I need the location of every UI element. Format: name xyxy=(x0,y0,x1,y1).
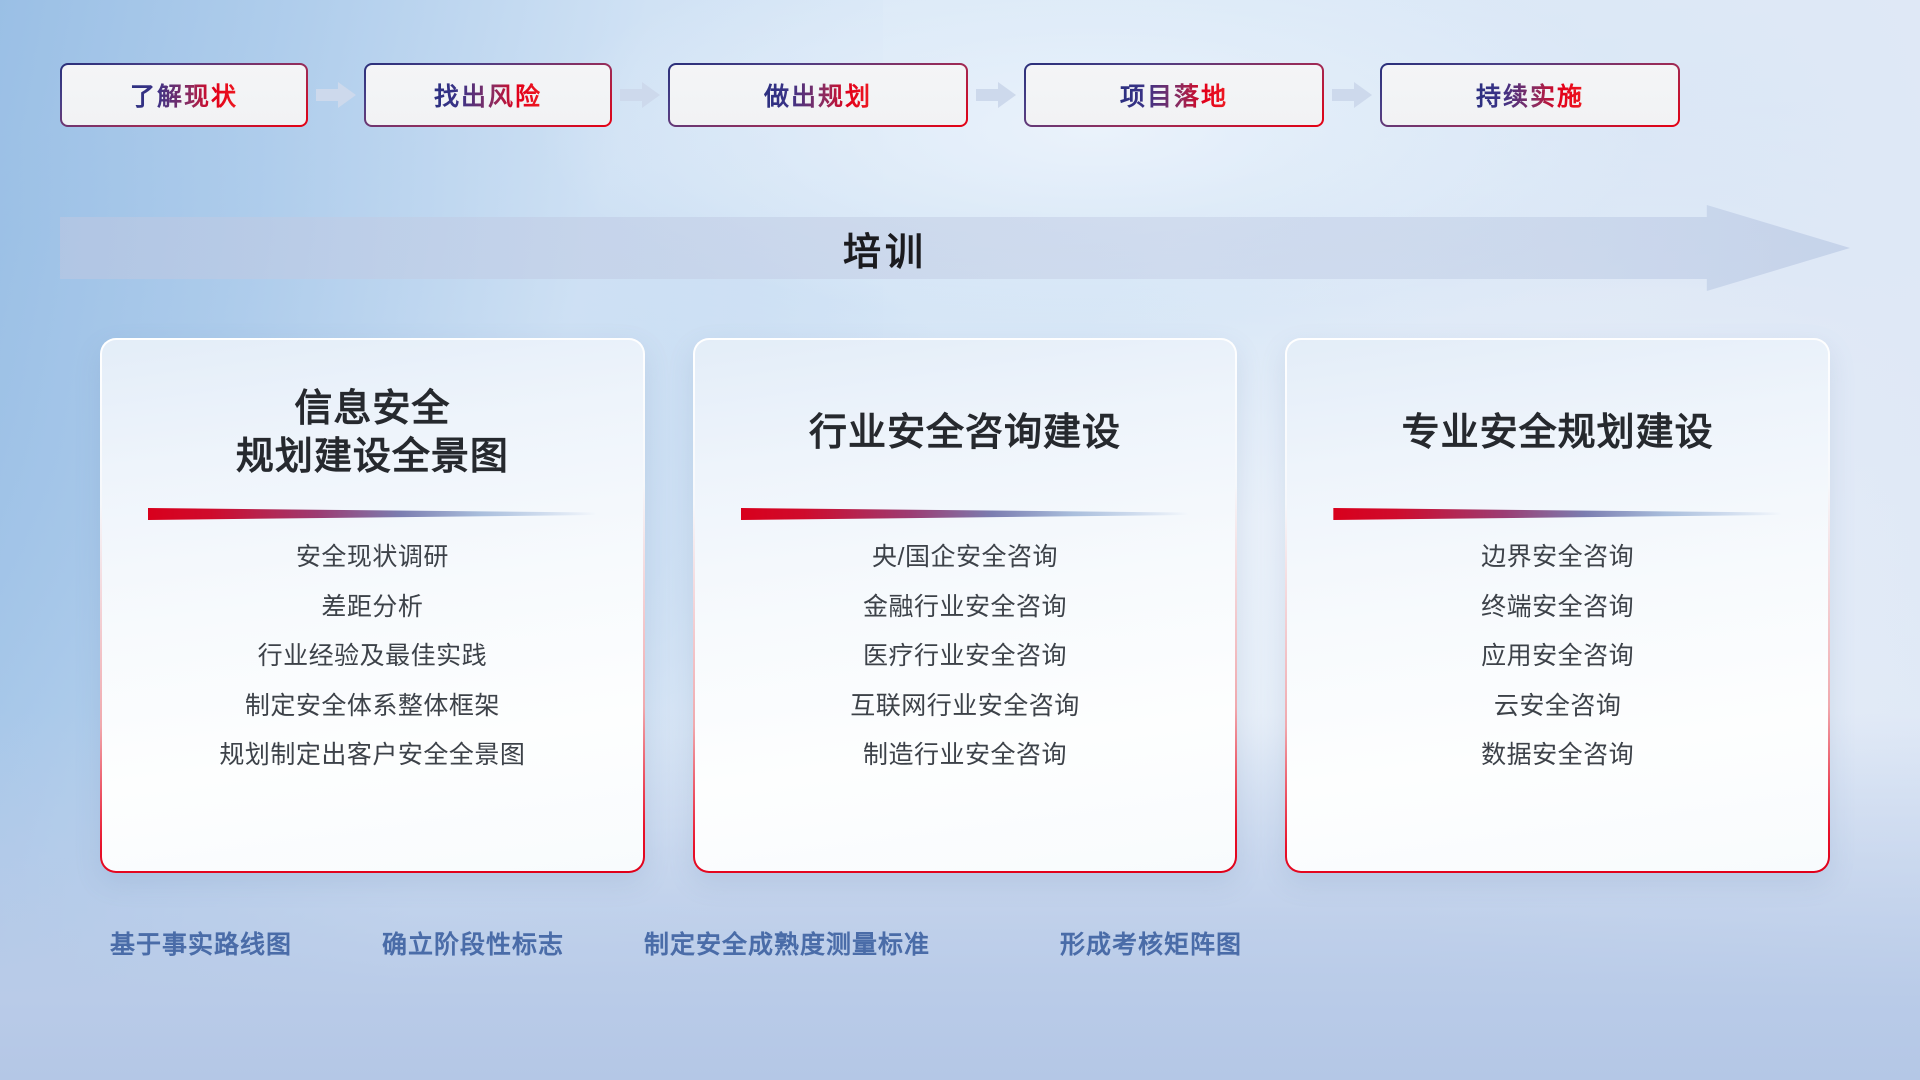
list-item: 应用安全咨询 xyxy=(1481,637,1634,677)
card-industry-security-consulting[interactable]: 行业安全咨询建设 央/国企安全咨询 金融行业安全咨询 医疗行业安全咨询 互联网行… xyxy=(693,338,1238,873)
step-label-3: 做出规划 xyxy=(764,77,872,113)
card-title: 行业安全咨询建设 xyxy=(809,386,1121,482)
list-item: 医疗行业安全咨询 xyxy=(863,637,1067,677)
training-banner-title: 培训 xyxy=(60,205,1710,291)
card-divider xyxy=(1333,508,1782,520)
card-divider xyxy=(741,508,1190,520)
card-item-list: 央/国企安全咨询 金融行业安全咨询 医疗行业安全咨询 互联网行业安全咨询 制造行… xyxy=(723,538,1208,776)
list-item: 边界安全咨询 xyxy=(1481,538,1634,578)
list-item: 制定安全体系整体框架 xyxy=(245,687,500,727)
arrow-right-icon xyxy=(1332,80,1372,110)
caption-fact-based-roadmap: 基于事实路线图 xyxy=(110,925,292,961)
step-label-2: 找出风险 xyxy=(434,77,542,113)
card-title-line: 信息安全 xyxy=(294,388,450,430)
card-item-list: 边界安全咨询 终端安全咨询 应用安全咨询 云安全咨询 数据安全咨询 xyxy=(1315,538,1800,776)
list-item: 终端安全咨询 xyxy=(1481,588,1634,628)
step-label-1: 了解现状 xyxy=(130,77,238,113)
step-item-1[interactable]: 了解现状 xyxy=(60,63,308,127)
list-item: 行业经验及最佳实践 xyxy=(258,637,488,677)
step-item-2[interactable]: 找出风险 xyxy=(364,63,612,127)
list-item: 数据安全咨询 xyxy=(1481,736,1634,776)
card-professional-security-planning[interactable]: 专业安全规划建设 边界安全咨询 终端安全咨询 应用安全咨询 云安全咨询 数据安全… xyxy=(1285,338,1830,873)
step-label-5: 持续实施 xyxy=(1476,77,1584,113)
list-item: 安全现状调研 xyxy=(296,538,449,578)
list-item: 金融行业安全咨询 xyxy=(863,588,1067,628)
arrow-right-icon xyxy=(976,80,1016,110)
arrow-right-icon xyxy=(620,80,660,110)
card-divider xyxy=(148,508,597,520)
step-label-4: 项目落地 xyxy=(1120,77,1228,113)
card-title-line: 行业安全咨询建设 xyxy=(809,410,1121,458)
list-item: 央/国企安全咨询 xyxy=(872,538,1058,578)
list-item: 云安全咨询 xyxy=(1494,687,1622,727)
step-item-4[interactable]: 项目落地 xyxy=(1024,63,1324,127)
card-group: 信息安全 规划建设全景图 安全现状调研 差距分析 行业经验及最佳实践 制定安全体… xyxy=(100,338,1830,873)
list-item: 规划制定出客户安全全景图 xyxy=(219,736,525,776)
card-title: 信息安全 规划建设全景图 xyxy=(236,386,509,482)
list-item: 制造行业安全咨询 xyxy=(863,736,1067,776)
step-item-5[interactable]: 持续实施 xyxy=(1380,63,1680,127)
arrow-right-icon xyxy=(316,80,356,110)
list-item: 差距分析 xyxy=(321,588,423,628)
caption-maturity-measurement: 制定安全成熟度测量标准 xyxy=(644,925,930,961)
card-item-list: 安全现状调研 差距分析 行业经验及最佳实践 制定安全体系整体框架 规划制定出客户… xyxy=(130,538,615,776)
card-title-line: 规划建设全景图 xyxy=(236,436,509,478)
process-step-flow: 了解现状 找出风险 做出规划 项目落地 持续实施 xyxy=(60,62,1860,128)
caption-assessment-matrix: 形成考核矩阵图 xyxy=(1060,925,1242,961)
caption-phase-milestones: 确立阶段性标志 xyxy=(382,925,564,961)
card-title-line: 专业安全规划建设 xyxy=(1402,410,1714,458)
card-title: 专业安全规划建设 xyxy=(1402,386,1714,482)
step-item-3[interactable]: 做出规划 xyxy=(668,63,968,127)
card-information-security-blueprint[interactable]: 信息安全 规划建设全景图 安全现状调研 差距分析 行业经验及最佳实践 制定安全体… xyxy=(100,338,645,873)
list-item: 互联网行业安全咨询 xyxy=(850,687,1080,727)
caption-row: 基于事实路线图 确立阶段性标志 制定安全成熟度测量标准 形成考核矩阵图 xyxy=(0,925,1920,973)
training-banner: 培训 xyxy=(60,205,1850,291)
